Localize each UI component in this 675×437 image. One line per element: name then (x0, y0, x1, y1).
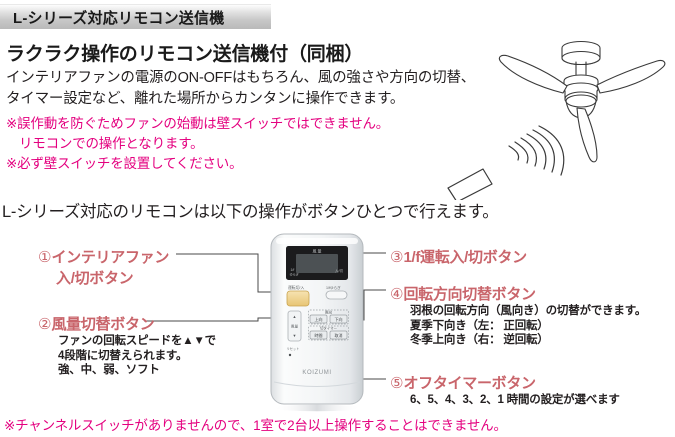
page-title: L-シリーズ対応リモコン送信機 (13, 7, 224, 28)
callout-3-fluctuation-mode: ③1/f運転入/切ボタン (390, 246, 527, 267)
callout-5-off-timer: ⑤オフタイマーボタン 6、5、4、3、2、1 時間の設定が選べます (390, 372, 620, 408)
warning-note-3: ※必ず壁スイッチを設置してください。 (6, 156, 242, 171)
ceiling-fan-illustration (435, 35, 675, 200)
svg-text:風量: 風量 (291, 324, 299, 329)
svg-text:リセット: リセット (287, 346, 300, 351)
svg-text:下向: 下向 (335, 316, 343, 322)
headline: ラクラク操作のリモコン送信機付（同梱） (6, 39, 363, 66)
callout-2-number: ② (38, 316, 51, 333)
section-lead-text: L-シリーズ対応のリモコンは以下の操作がボタンひとつで行えます。 (2, 198, 498, 222)
svg-text:▲: ▲ (293, 314, 297, 319)
warning-note-2: リモコンでの操作となります。 (6, 134, 389, 154)
svg-text:▼: ▼ (293, 333, 297, 338)
callout-4-sub-2: 夏季下向き（左： 正回転） (390, 319, 646, 334)
svg-text:取消: 取消 (335, 332, 343, 338)
callout-5-sub-1: 6、5、4、3、2、1 時間の設定が選べます (390, 393, 620, 408)
callout-2-sub-1: ファンの回転スピードを▲▼で (38, 334, 216, 349)
svg-text:入/切: 入/切 (335, 268, 344, 273)
intro-line-2: タイマー設定など、離れた場所からカンタンに操作できます。 (6, 91, 404, 107)
svg-text:KOIZUMI: KOIZUMI (302, 370, 331, 376)
intro-paragraph: インテリアファンの電源のON-OFFはもちろん、風の強さや方向の切替、 タイマー… (6, 68, 475, 110)
svg-text:ゆらぎ: ゆらぎ (290, 272, 299, 277)
bottom-warning-note: ※チャンネルスイッチがありませんので、1室で2台以上操作することはできません。 (4, 414, 507, 434)
intro-line-1: インテリアファンの電源のON-OFFはもちろん、風の強さや方向の切替、 (6, 70, 475, 86)
callout-1-interior-fan-power: ①インテリアファン 入/切ボタン (38, 246, 169, 288)
page-header-bar: L-シリーズ対応リモコン送信機 (0, 4, 271, 29)
callout-4-rotation-direction: ④回転方向切替ボタン 羽根の回転方向（風向き）の切替ができます。 夏季下向き（左… (390, 283, 646, 348)
callout-1-title-line2: 入/切ボタン (38, 267, 169, 288)
callout-5-number: ⑤ (390, 375, 403, 392)
callout-3-number: ③ (390, 249, 403, 266)
callout-4-number: ④ (390, 286, 403, 303)
callout-4-sub-3: 冬季上向き（右： 逆回転） (390, 333, 646, 348)
svg-text:時間: 時間 (315, 332, 323, 338)
callout-4-sub-1: 羽根の回転方向（風向き）の切替ができます。 (390, 304, 646, 319)
callout-4-title: 回転方向切替ボタン (403, 286, 535, 303)
callout-2-airflow-switch: ②風量切替ボタン ファンの回転スピードを▲▼で 4段階に切替えられます。 強、中… (38, 313, 216, 378)
svg-text:1/fゆらぎ: 1/fゆらぎ (326, 285, 341, 290)
callout-5-title: オフタイマーボタン (403, 375, 535, 392)
svg-text:切タイマー: 切タイマー (320, 326, 338, 331)
svg-text:1/f: 1/f (291, 268, 295, 272)
callout-3-title: 1/f運転入/切ボタン (403, 249, 526, 266)
callout-2-sub-2: 4段階に切替えられます。 (38, 349, 216, 364)
callout-2-sub-3: 強、中、弱、ソフト (38, 363, 216, 378)
warning-note-1: ※誤作動を防ぐためファンの始動は壁スイッチではできません。 (6, 116, 389, 131)
callout-1-number: ① (38, 249, 51, 266)
svg-text:運転切/入: 運転切/入 (288, 285, 304, 290)
callout-1-title: インテリアファン (51, 249, 169, 266)
callout-2-title: 風量切替ボタン (51, 316, 154, 333)
svg-text:風向: 風向 (325, 310, 333, 315)
svg-text:風 量: 風 量 (312, 248, 321, 254)
svg-text:上向: 上向 (315, 316, 323, 322)
warning-notes: ※誤作動を防ぐためファンの始動は壁スイッチではできません。 リモコンでの操作とな… (6, 114, 389, 174)
remote-control-illustration: 風 量 1/f ゆらぎ 入/切 運転切/入 1/fゆらぎ ▲ 風量 ▼ リセット… (258, 232, 376, 412)
